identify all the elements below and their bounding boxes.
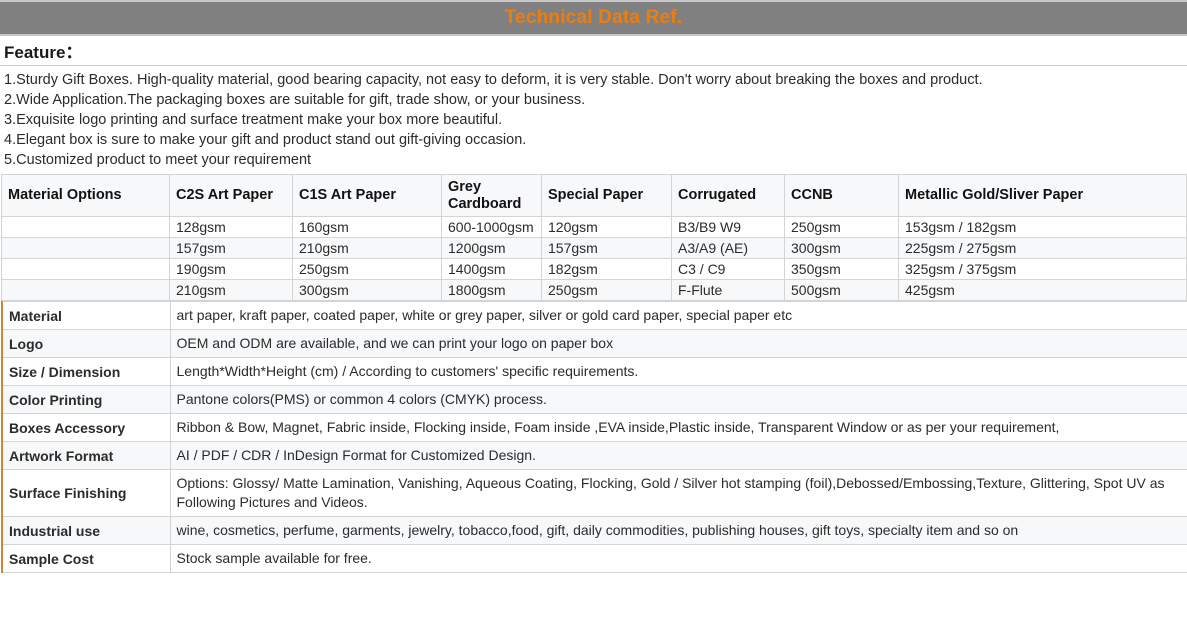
detail-row-industrial-use: Industrial use wine, cosmetics, perfume,… <box>2 517 1187 545</box>
col-header-material-options: Material Options <box>2 175 170 217</box>
detail-row-artwork-format: Artwork Format AI / PDF / CDR / InDesign… <box>2 442 1187 470</box>
cell-ccnb: 350gsm <box>785 259 899 280</box>
col-header-corrugated: Corrugated <box>672 175 785 217</box>
table-row: 128gsm 160gsm 600-1000gsm 120gsm B3/B9 W… <box>2 217 1187 238</box>
detail-value-artwork-format: AI / PDF / CDR / InDesign Format for Cus… <box>170 442 1187 470</box>
detail-row-sample-cost: Sample Cost Stock sample available for f… <box>2 545 1187 573</box>
cell-metallic: 225gsm / 275gsm <box>899 238 1187 259</box>
detail-value-color-printing: Pantone colors(PMS) or common 4 colors (… <box>170 386 1187 414</box>
feature-line-3: 3.Exquisite logo printing and surface tr… <box>4 110 1183 130</box>
cell-corrugated: A3/A9 (AE) <box>672 238 785 259</box>
feature-heading-row: Feature： <box>0 36 1187 66</box>
cell-grey: 1200gsm <box>442 238 542 259</box>
cell-c1s: 210gsm <box>293 238 442 259</box>
col-header-ccnb: CCNB <box>785 175 899 217</box>
cell-grey: 1800gsm <box>442 280 542 301</box>
cell-metallic: 425gsm <box>899 280 1187 301</box>
table-row: 157gsm 210gsm 1200gsm 157gsm A3/A9 (AE) … <box>2 238 1187 259</box>
cell-ccnb: 500gsm <box>785 280 899 301</box>
detail-value-boxes-accessory: Ribbon & Bow, Magnet, Fabric inside, Flo… <box>170 414 1187 442</box>
material-options-table: Material Options C2S Art Paper C1S Art P… <box>1 174 1187 301</box>
col-header-c1s-art-paper: C1S Art Paper <box>293 175 442 217</box>
cell-metallic: 153gsm / 182gsm <box>899 217 1187 238</box>
cell-c1s: 300gsm <box>293 280 442 301</box>
cell-grey: 1400gsm <box>442 259 542 280</box>
feature-heading: Feature： <box>4 38 82 63</box>
table-row: 210gsm 300gsm 1800gsm 250gsm F-Flute 500… <box>2 280 1187 301</box>
detail-value-sample-cost: Stock sample available for free. <box>170 545 1187 573</box>
detail-label-color-printing: Color Printing <box>2 386 170 414</box>
page-title: Technical Data Ref. <box>505 7 683 29</box>
cell-c1s: 160gsm <box>293 217 442 238</box>
feature-line-5: 5.Customized product to meet your requir… <box>4 150 1183 170</box>
detail-value-industrial-use: wine, cosmetics, perfume, garments, jewe… <box>170 517 1187 545</box>
cell-ccnb: 250gsm <box>785 217 899 238</box>
col-header-c2s-art-paper: C2S Art Paper <box>170 175 293 217</box>
detail-label-sample-cost: Sample Cost <box>2 545 170 573</box>
technical-data-sheet: Technical Data Ref. Feature： 1.Sturdy Gi… <box>0 0 1187 620</box>
detail-label-boxes-accessory: Boxes Accessory <box>2 414 170 442</box>
cell-material-options <box>2 280 170 301</box>
detail-row-boxes-accessory: Boxes Accessory Ribbon & Bow, Magnet, Fa… <box>2 414 1187 442</box>
table-header-row: Material Options C2S Art Paper C1S Art P… <box>2 175 1187 217</box>
detail-specs-table: Material art paper, kraft paper, coated … <box>1 301 1187 573</box>
detail-row-size-dimension: Size / Dimension Length*Width*Height (cm… <box>2 358 1187 386</box>
feature-line-1: 1.Sturdy Gift Boxes. High-quality materi… <box>4 70 1183 90</box>
cell-material-options <box>2 217 170 238</box>
feature-line-4: 4.Elegant box is sure to make your gift … <box>4 130 1183 150</box>
cell-corrugated: C3 / C9 <box>672 259 785 280</box>
cell-corrugated: F-Flute <box>672 280 785 301</box>
col-header-grey-cardboard: Grey Cardboard <box>442 175 542 217</box>
cell-special: 250gsm <box>542 280 672 301</box>
cell-metallic: 325gsm / 375gsm <box>899 259 1187 280</box>
cell-c2s: 128gsm <box>170 217 293 238</box>
col-header-special-paper: Special Paper <box>542 175 672 217</box>
detail-row-material: Material art paper, kraft paper, coated … <box>2 302 1187 330</box>
detail-label-industrial-use: Industrial use <box>2 517 170 545</box>
title-bar: Technical Data Ref. <box>0 0 1187 36</box>
detail-row-surface-finishing: Surface Finishing Options: Glossy/ Matte… <box>2 470 1187 517</box>
cell-c1s: 250gsm <box>293 259 442 280</box>
feature-line-2: 2.Wide Application.The packaging boxes a… <box>4 90 1183 110</box>
cell-special: 120gsm <box>542 217 672 238</box>
detail-row-color-printing: Color Printing Pantone colors(PMS) or co… <box>2 386 1187 414</box>
detail-value-logo: OEM and ODM are available, and we can pr… <box>170 330 1187 358</box>
detail-label-material: Material <box>2 302 170 330</box>
detail-label-artwork-format: Artwork Format <box>2 442 170 470</box>
detail-value-size-dimension: Length*Width*Height (cm) / According to … <box>170 358 1187 386</box>
cell-ccnb: 300gsm <box>785 238 899 259</box>
feature-list: 1.Sturdy Gift Boxes. High-quality materi… <box>0 66 1187 174</box>
cell-special: 182gsm <box>542 259 672 280</box>
cell-corrugated: B3/B9 W9 <box>672 217 785 238</box>
cell-material-options <box>2 259 170 280</box>
detail-value-surface-finishing: Options: Glossy/ Matte Lamination, Vanis… <box>170 470 1187 517</box>
detail-label-surface-finishing: Surface Finishing <box>2 470 170 517</box>
detail-row-logo: Logo OEM and ODM are available, and we c… <box>2 330 1187 358</box>
cell-material-options <box>2 238 170 259</box>
col-header-metallic-paper: Metallic Gold/Sliver Paper <box>899 175 1187 217</box>
cell-c2s: 190gsm <box>170 259 293 280</box>
detail-label-logo: Logo <box>2 330 170 358</box>
cell-special: 157gsm <box>542 238 672 259</box>
detail-value-material: art paper, kraft paper, coated paper, wh… <box>170 302 1187 330</box>
cell-grey: 600-1000gsm <box>442 217 542 238</box>
cell-c2s: 157gsm <box>170 238 293 259</box>
table-row: 190gsm 250gsm 1400gsm 182gsm C3 / C9 350… <box>2 259 1187 280</box>
detail-label-size-dimension: Size / Dimension <box>2 358 170 386</box>
cell-c2s: 210gsm <box>170 280 293 301</box>
